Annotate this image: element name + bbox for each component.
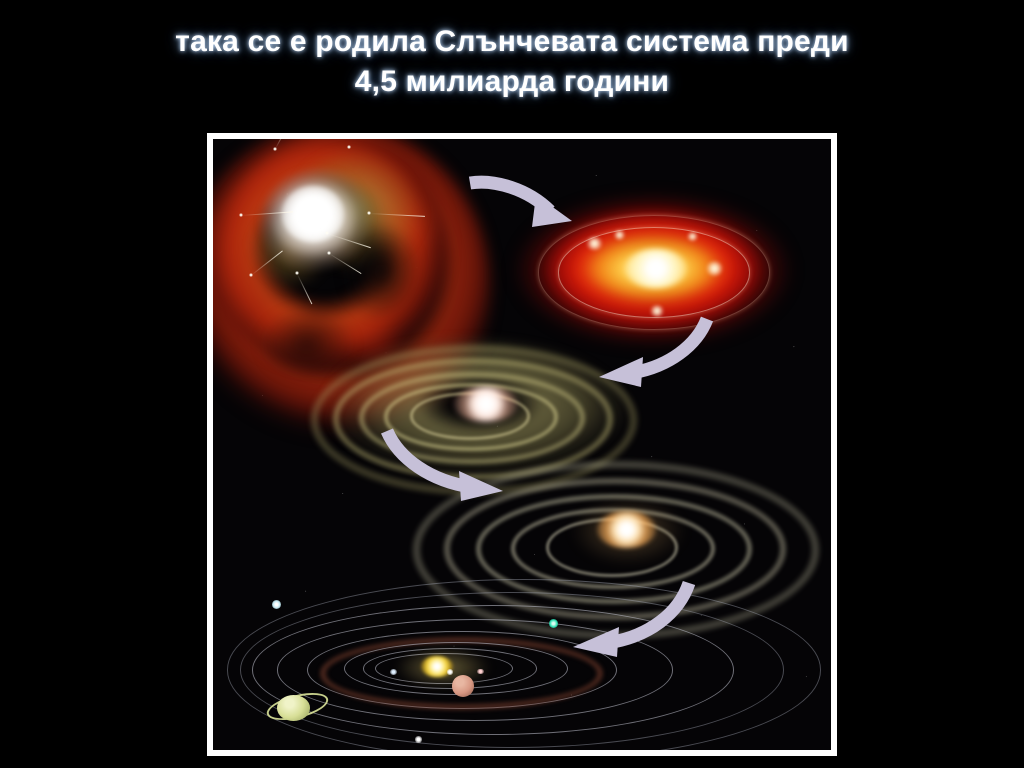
- planet-uranus: [549, 619, 558, 628]
- nebula-core-highlight: [282, 186, 344, 242]
- nebula-spark: [367, 211, 371, 215]
- hotdisk-knot: [586, 237, 603, 251]
- illustration-canvas: [213, 139, 831, 750]
- nebula-spark: [347, 145, 351, 149]
- nebula-spark: [273, 147, 277, 151]
- page-title: така се е родила Слънчевата система пред…: [0, 22, 1024, 101]
- hotdisk-knot: [614, 230, 625, 239]
- nebula-spark: [239, 213, 243, 217]
- planetesimal-core-star: [597, 511, 656, 548]
- hotdisk-knot: [706, 261, 723, 276]
- hotdisk-core: [625, 249, 687, 289]
- planet-dwarf-outer: [415, 736, 422, 742]
- nebula-spark: [325, 231, 329, 235]
- illustration-frame: [207, 133, 837, 756]
- planet-inner-small: [477, 669, 483, 674]
- nebula-spark: [327, 251, 331, 255]
- planet-neptune: [272, 600, 281, 609]
- dustdisk-core: [454, 386, 518, 422]
- stage-hot-protostar-disk: [513, 194, 793, 346]
- hotdisk-knot: [687, 232, 698, 241]
- nebula-spark: [295, 271, 299, 275]
- stage-solar-system: [215, 589, 831, 749]
- nebula-spark: [249, 273, 253, 277]
- planet-inner-small: [390, 669, 397, 675]
